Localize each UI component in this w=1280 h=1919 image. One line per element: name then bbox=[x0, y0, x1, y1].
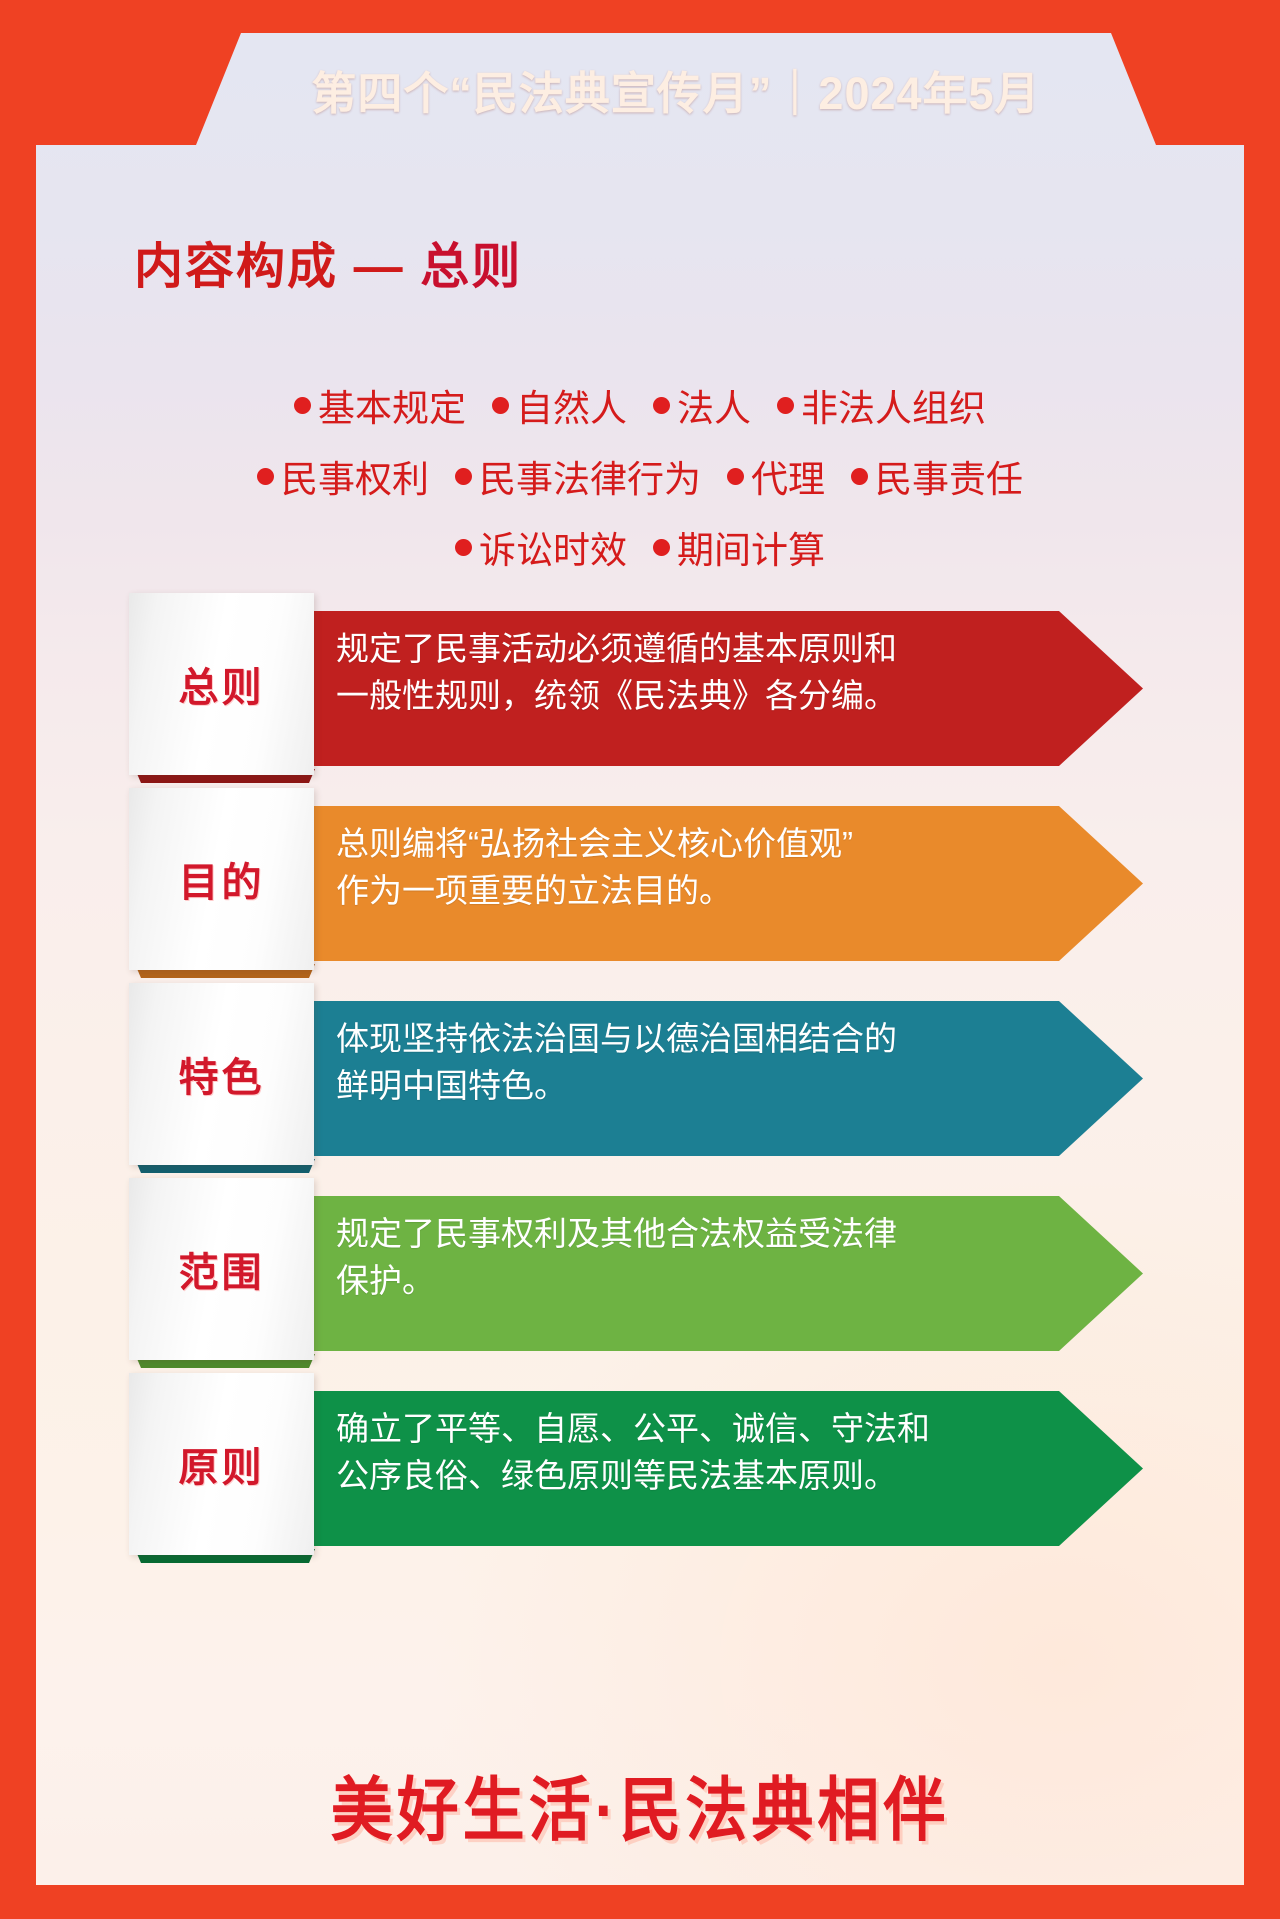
arrow-band-label-card: 特色 bbox=[129, 983, 314, 1165]
list-item: 民事责任 bbox=[851, 449, 1023, 503]
arrow-band-label-card: 原则 bbox=[129, 1373, 314, 1555]
bullet-dot-icon bbox=[294, 397, 311, 414]
section-title: 内容构成 — 总则 bbox=[134, 227, 522, 298]
bullet-label: 基本规定 bbox=[318, 378, 466, 432]
arrow-band-label-card: 范围 bbox=[129, 1178, 314, 1360]
arrow-band-label: 原则 bbox=[179, 1435, 265, 1493]
arrow-band-yuanze: 确立了平等、自愿、公平、诚信、守法和 公序良俗、绿色原则等民法基本原则。 原则 bbox=[36, 1373, 1244, 1563]
bullet-dot-icon bbox=[653, 397, 670, 414]
poster-inner-panel: 第四个“民法典宣传月”｜2024年5月 内容构成 — 总则 基本规定 自然人 法… bbox=[36, 33, 1244, 1885]
arrow-band-label: 范围 bbox=[179, 1240, 265, 1298]
bullet-dot-icon bbox=[455, 539, 472, 556]
list-item: 自然人 bbox=[492, 378, 627, 432]
bullet-label: 民事权利 bbox=[281, 449, 429, 503]
bullet-list: 基本规定 自然人 法人 非法人组织 民事权利 民事法律行为 代理 民事责任 诉讼… bbox=[36, 378, 1244, 591]
bullet-label: 自然人 bbox=[516, 378, 627, 432]
bullet-label: 民事法律行为 bbox=[479, 449, 701, 503]
list-item: 非法人组织 bbox=[777, 378, 986, 432]
list-item: 期间计算 bbox=[653, 520, 825, 574]
bullet-dot-icon bbox=[455, 468, 472, 485]
list-item: 法人 bbox=[653, 378, 751, 432]
bullet-label: 法人 bbox=[677, 378, 751, 432]
arrow-band-fanwei: 规定了民事权利及其他合法权益受法律 保护。 范围 bbox=[36, 1178, 1244, 1368]
bullet-dot-icon bbox=[653, 539, 670, 556]
bullet-dot-icon bbox=[777, 397, 794, 414]
arrow-band-label: 目的 bbox=[179, 850, 265, 908]
arrow-band-list: 规定了民事活动必须遵循的基本原则和 一般性规则，统领《民法典》各分编。 总则 总… bbox=[36, 33, 1244, 1885]
arrow-band-description: 规定了民事活动必须遵循的基本原则和 一般性规则，统领《民法典》各分编。 bbox=[336, 625, 976, 719]
arrow-band-label: 特色 bbox=[179, 1045, 265, 1103]
bullet-dot-icon bbox=[851, 468, 868, 485]
bullet-dot-icon bbox=[257, 468, 274, 485]
list-item: 基本规定 bbox=[294, 378, 466, 432]
list-item: 民事权利 bbox=[257, 449, 429, 503]
arrow-band-label: 总则 bbox=[179, 655, 265, 713]
bullet-label: 期间计算 bbox=[677, 520, 825, 574]
list-item: 诉讼时效 bbox=[455, 520, 627, 574]
header-banner: 第四个“民法典宣传月”｜2024年5月 bbox=[36, 33, 1244, 145]
arrow-band-description: 总则编将“弘扬社会主义核心价值观” 作为一项重要的立法目的。 bbox=[336, 820, 976, 914]
bullet-label: 代理 bbox=[751, 449, 825, 503]
section-title-accent: 总则 bbox=[420, 240, 522, 294]
bullet-label: 非法人组织 bbox=[801, 378, 986, 432]
bullet-row: 诉讼时效 期间计算 bbox=[36, 520, 1244, 574]
bullet-row: 基本规定 自然人 法人 非法人组织 bbox=[36, 378, 1244, 432]
bullet-dot-icon bbox=[492, 397, 509, 414]
arrow-band-zongze: 规定了民事活动必须遵循的基本原则和 一般性规则，统领《民法典》各分编。 总则 bbox=[36, 593, 1244, 783]
arrow-band-description: 规定了民事权利及其他合法权益受法律 保护。 bbox=[336, 1210, 976, 1304]
poster-root: 第四个“民法典宣传月”｜2024年5月 内容构成 — 总则 基本规定 自然人 法… bbox=[0, 0, 1280, 1919]
arrow-band-mudi: 总则编将“弘扬社会主义核心价值观” 作为一项重要的立法目的。 目的 bbox=[36, 788, 1244, 978]
arrow-band-description: 体现坚持依法治国与以德治国相结合的 鲜明中国特色。 bbox=[336, 1015, 976, 1109]
bullet-row: 民事权利 民事法律行为 代理 民事责任 bbox=[36, 449, 1244, 503]
arrow-band-description: 确立了平等、自愿、公平、诚信、守法和 公序良俗、绿色原则等民法基本原则。 bbox=[336, 1405, 976, 1499]
list-item: 代理 bbox=[727, 449, 825, 503]
arrow-band-label-card: 目的 bbox=[129, 788, 314, 970]
bullet-dot-icon bbox=[727, 468, 744, 485]
footer-slogan: 美好生活·民法典相伴 bbox=[36, 1754, 1244, 1855]
arrow-band-label-card: 总则 bbox=[129, 593, 314, 775]
header-title: 第四个“民法典宣传月”｜2024年5月 bbox=[36, 33, 1244, 145]
section-title-prefix: 内容构成 — bbox=[134, 240, 420, 294]
list-item: 民事法律行为 bbox=[455, 449, 701, 503]
arrow-band-tese: 体现坚持依法治国与以德治国相结合的 鲜明中国特色。 特色 bbox=[36, 983, 1244, 1173]
bullet-label: 诉讼时效 bbox=[479, 520, 627, 574]
bullet-label: 民事责任 bbox=[875, 449, 1023, 503]
